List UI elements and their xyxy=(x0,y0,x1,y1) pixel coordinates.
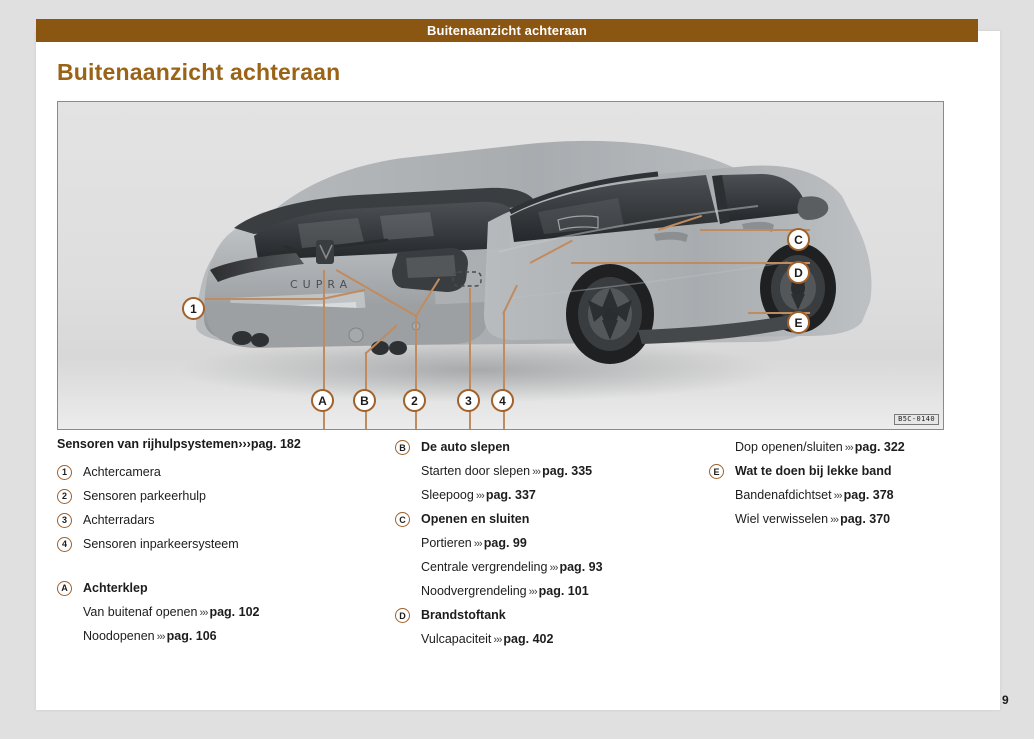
reference-row-text: Bandenafdichtset›››pag. 378 xyxy=(735,485,894,506)
reference-row[interactable]: Starten door slepen›››pag. 335 xyxy=(395,461,700,482)
document-page: Buitenaanzicht achteraan Buitenaanzicht … xyxy=(0,0,1034,739)
page-reference[interactable]: pag. 93 xyxy=(559,560,602,574)
reference-row[interactable]: COpenen en sluiten xyxy=(395,509,700,530)
reference-row-text: Sensoren parkeerhulp xyxy=(83,486,206,506)
callout-marker-D[interactable]: D xyxy=(787,261,810,284)
page-reference[interactable]: pag. 370 xyxy=(840,512,890,526)
reference-row-text: Sensoren inparkeersysteem xyxy=(83,534,239,554)
callout-label: D xyxy=(794,266,803,280)
reference-row[interactable]: AAchterklep xyxy=(57,578,367,599)
reference-column-left: Sensoren van rijhulpsystemen›››pag. 1821… xyxy=(57,437,367,650)
reference-row-text: Wat te doen bij lekke band xyxy=(735,461,892,481)
reference-row-text: Wiel verwisselen›››pag. 370 xyxy=(735,509,890,530)
page-reference[interactable]: pag. 99 xyxy=(484,536,527,550)
reference-text: Dop openen/sluiten xyxy=(735,440,843,454)
reference-text: Achtercamera xyxy=(83,465,161,479)
list-marker-blank xyxy=(709,512,724,527)
reference-row-text: Sleepoog›››pag. 337 xyxy=(421,485,536,506)
chevron-arrows-icon: ››› xyxy=(530,466,542,478)
list-marker-blank xyxy=(395,584,410,599)
reference-row-text: Noodvergrendeling›››pag. 101 xyxy=(421,581,589,602)
page-reference[interactable]: pag. 102 xyxy=(209,605,259,619)
callout-marker-E[interactable]: E xyxy=(787,311,810,334)
callout-label: 1 xyxy=(190,302,197,316)
reference-row-text: Achtercamera xyxy=(83,462,161,482)
reference-row-text: Starten door slepen›››pag. 335 xyxy=(421,461,592,482)
reference-row-text: Brandstoftank xyxy=(421,605,506,625)
reference-row[interactable]: 1Achtercamera xyxy=(57,462,367,483)
reference-row[interactable]: 4Sensoren inparkeersysteem xyxy=(57,534,367,555)
reference-text: Noodopenen xyxy=(83,629,155,643)
reference-text: Openen en sluiten xyxy=(421,512,529,526)
list-marker-E: E xyxy=(709,464,724,479)
reference-row[interactable]: BDe auto slepen xyxy=(395,437,700,458)
chevron-arrows-icon: ››› xyxy=(238,437,251,451)
reference-row[interactable]: Centrale vergrendeling›››pag. 93 xyxy=(395,557,700,578)
reference-text: Sensoren inparkeersysteem xyxy=(83,537,239,551)
reference-row-text: Achterklep xyxy=(83,578,148,598)
list-marker-D: D xyxy=(395,608,410,623)
callout-marker-3[interactable]: 3 xyxy=(457,389,480,412)
reference-row-text: Portieren›››pag. 99 xyxy=(421,533,527,554)
list-marker-4: 4 xyxy=(57,537,72,552)
page-reference[interactable]: pag. 182 xyxy=(251,437,301,451)
svg-text:CUPRA: CUPRA xyxy=(290,278,352,291)
reference-list: Sensoren van rijhulpsystemen›››pag. 1821… xyxy=(57,437,947,667)
reference-row[interactable]: 3Achterradars xyxy=(57,510,367,531)
reference-row[interactable]: Dop openen/sluiten›››pag. 322 xyxy=(709,437,949,458)
callout-marker-1[interactable]: 1 xyxy=(182,297,205,320)
running-header-bar: Buitenaanzicht achteraan xyxy=(36,19,978,42)
page-reference[interactable]: pag. 402 xyxy=(503,632,553,646)
reference-text: Van buitenaf openen xyxy=(83,605,197,619)
list-marker-blank xyxy=(395,464,410,479)
figure-image: CUPRA xyxy=(58,102,943,429)
car-illustration-svg: CUPRA xyxy=(58,102,941,427)
reference-text: Sleepoog xyxy=(421,488,474,502)
list-marker-blank xyxy=(57,605,72,620)
page-reference[interactable]: pag. 337 xyxy=(486,488,536,502)
reference-column-middle: BDe auto slepenStarten door slepen›››pag… xyxy=(395,437,700,653)
running-header-title: Buitenaanzicht achteraan xyxy=(427,23,587,38)
leader-line-1 xyxy=(205,298,322,300)
reference-text: Sensoren van rijhulpsystemen xyxy=(57,437,238,451)
leader-line-2 xyxy=(415,314,417,430)
reference-text: Bandenafdichtset xyxy=(735,488,832,502)
reference-row[interactable]: Noodopenen›››pag. 106 xyxy=(57,626,367,647)
page-title: Buitenaanzicht achteraan xyxy=(57,59,340,86)
chevron-arrows-icon: ››› xyxy=(472,538,484,550)
callout-label: 3 xyxy=(465,394,472,408)
page-reference[interactable]: pag. 106 xyxy=(167,629,217,643)
callout-label: A xyxy=(318,394,327,408)
reference-row[interactable]: Vulcapaciteit›››pag. 402 xyxy=(395,629,700,650)
chevron-arrows-icon: ››› xyxy=(474,490,486,502)
figure-rear-exterior-view: CUPRA xyxy=(57,101,944,430)
reference-row-text: Dop openen/sluiten›››pag. 322 xyxy=(735,437,905,458)
list-marker-C: C xyxy=(395,512,410,527)
reference-row[interactable]: EWat te doen bij lekke band xyxy=(709,461,949,482)
list-marker-3: 3 xyxy=(57,513,72,528)
list-marker-B: B xyxy=(395,440,410,455)
chevron-arrows-icon: ››› xyxy=(155,631,167,643)
reference-row-text: Achterradars xyxy=(83,510,155,530)
reference-row[interactable]: Bandenafdichtset›››pag. 378 xyxy=(709,485,949,506)
reference-row-text: Vulcapaciteit›››pag. 402 xyxy=(421,629,553,650)
callout-label: B xyxy=(360,394,369,408)
list-marker-blank xyxy=(395,488,410,503)
chevron-arrows-icon: ››› xyxy=(547,562,559,574)
reference-text: Vulcapaciteit xyxy=(421,632,491,646)
reference-text: Brandstoftank xyxy=(421,608,506,622)
leader-line-4 xyxy=(503,312,505,430)
reference-text: Centrale vergrendeling xyxy=(421,560,547,574)
reference-column-right: Dop openen/sluiten›››pag. 322EWat te doe… xyxy=(709,437,949,533)
reference-row[interactable]: Van buitenaf openen›››pag. 102 xyxy=(57,602,367,623)
reference-text: Noodvergrendeling xyxy=(421,584,527,598)
reference-text: De auto slepen xyxy=(421,440,510,454)
reference-row-text: Van buitenaf openen›››pag. 102 xyxy=(83,602,259,623)
callout-label: C xyxy=(794,233,803,247)
figure-id-label: B5C-0140 xyxy=(894,414,939,425)
page-reference[interactable]: pag. 322 xyxy=(855,440,905,454)
callout-marker-A[interactable]: A xyxy=(311,389,334,412)
list-marker-blank xyxy=(709,488,724,503)
reference-text: Starten door slepen xyxy=(421,464,530,478)
reference-row[interactable]: Portieren›››pag. 99 xyxy=(395,533,700,554)
list-marker-1: 1 xyxy=(57,465,72,480)
reference-text: Achterklep xyxy=(83,581,148,595)
reference-row[interactable]: 2Sensoren parkeerhulp xyxy=(57,486,367,507)
leader-line-D xyxy=(571,262,810,264)
page-reference[interactable]: pag. 335 xyxy=(542,464,592,478)
callout-marker-4[interactable]: 4 xyxy=(491,389,514,412)
list-marker-blank xyxy=(709,440,724,455)
page-reference[interactable]: pag. 378 xyxy=(844,488,894,502)
reference-text: Sensoren parkeerhulp xyxy=(83,489,206,503)
reference-row[interactable]: Wiel verwisselen›››pag. 370 xyxy=(709,509,949,530)
page-folio: 9 xyxy=(1002,693,1009,707)
chevron-arrows-icon: ››› xyxy=(197,607,209,619)
callout-label: 4 xyxy=(499,394,506,408)
reference-row-text: Noodopenen›››pag. 106 xyxy=(83,626,217,647)
chevron-arrows-icon: ››› xyxy=(843,442,855,454)
list-marker-blank xyxy=(395,632,410,647)
chevron-arrows-icon: ››› xyxy=(828,514,840,526)
chevron-arrows-icon: ››› xyxy=(491,634,503,646)
reference-group-heading[interactable]: Sensoren van rijhulpsystemen›››pag. 182 xyxy=(57,437,367,453)
list-marker-2: 2 xyxy=(57,489,72,504)
callout-marker-C[interactable]: C xyxy=(787,228,810,251)
reference-text: Portieren xyxy=(421,536,472,550)
reference-text: Achterradars xyxy=(83,513,155,527)
callout-marker-B[interactable]: B xyxy=(353,389,376,412)
list-marker-A: A xyxy=(57,581,72,596)
callout-label: 2 xyxy=(411,394,418,408)
reference-text: Wiel verwisselen xyxy=(735,512,828,526)
list-spacer xyxy=(57,558,367,578)
reference-text: Wat te doen bij lekke band xyxy=(735,464,892,478)
callout-marker-2[interactable]: 2 xyxy=(403,389,426,412)
reference-row-text: De auto slepen xyxy=(421,437,510,457)
reference-row[interactable]: DBrandstoftank xyxy=(395,605,700,626)
callout-label: E xyxy=(794,316,802,330)
list-marker-blank xyxy=(57,629,72,644)
page-reference[interactable]: pag. 101 xyxy=(539,584,589,598)
reference-row[interactable]: Noodvergrendeling›››pag. 101 xyxy=(395,581,700,602)
chevron-arrows-icon: ››› xyxy=(832,490,844,502)
reference-row-text: Openen en sluiten xyxy=(421,509,529,529)
reference-row[interactable]: Sleepoog›››pag. 337 xyxy=(395,485,700,506)
reference-row-text: Centrale vergrendeling›››pag. 93 xyxy=(421,557,603,578)
chevron-arrows-icon: ››› xyxy=(527,586,539,598)
list-marker-blank xyxy=(395,536,410,551)
list-marker-blank xyxy=(395,560,410,575)
